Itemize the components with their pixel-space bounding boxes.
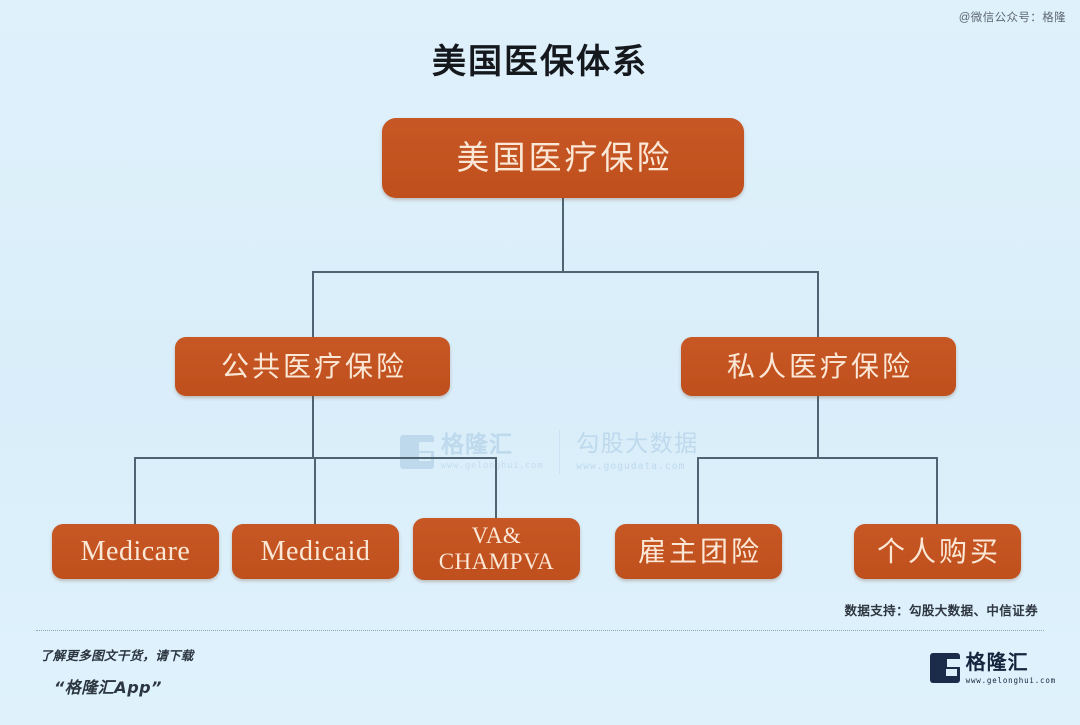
footer-promo-line2: “格隆汇App” <box>54 674 194 698</box>
watermark-left-url: www.gelonghui.com <box>441 462 543 471</box>
edge-private-stem <box>817 396 819 458</box>
watermark-left-block: 格隆汇 www.gelonghui.com <box>441 434 543 471</box>
node-va-champva[interactable]: VA& CHAMPVA <box>413 518 580 580</box>
edge-public-stem <box>312 396 314 458</box>
node-va-line1: VA& <box>439 523 555 549</box>
footer-logo-text: 格隆汇 www.gelonghui.com <box>966 652 1056 685</box>
node-medicare[interactable]: Medicare <box>52 524 219 579</box>
edge-to-employer <box>697 457 699 525</box>
node-individual-purchase[interactable]: 个人购买 <box>854 524 1021 579</box>
node-medicaid[interactable]: Medicaid <box>232 524 399 579</box>
footer-promo-line1: 了解更多图文干货，请下载 <box>40 645 194 664</box>
footer-logo-url: www.gelonghui.com <box>966 677 1056 685</box>
source-note: 数据支持：勾股大数据、中信证券 <box>844 600 1038 619</box>
watermark-right-name: 勾股大数据 <box>576 433 699 456</box>
edge-level1-bus <box>312 271 819 273</box>
edge-to-public <box>312 271 314 338</box>
node-va-line2: CHAMPVA <box>439 549 555 575</box>
footer-promo: 了解更多图文干货，请下载 “格隆汇App” <box>40 645 194 698</box>
edge-to-va <box>495 457 497 519</box>
edge-private-bus <box>697 457 937 459</box>
watermark-left-name: 格隆汇 <box>441 434 543 457</box>
edge-to-medicare <box>134 457 136 525</box>
gelonghui-logo-icon <box>400 435 434 469</box>
gelonghui-logo-icon <box>930 653 960 683</box>
node-root-insurance[interactable]: 美国医疗保险 <box>382 118 744 198</box>
edge-to-medicaid <box>314 457 316 525</box>
top-watermark: @微信公众号：格隆 <box>959 9 1066 25</box>
edge-to-personal <box>936 457 938 525</box>
watermark-divider <box>559 430 560 474</box>
diagram-canvas: @微信公众号：格隆 美国医保体系 格隆汇 www.gelonghui.com 勾… <box>0 0 1080 725</box>
center-watermark: 格隆汇 www.gelonghui.com 勾股大数据 www.gogudata… <box>400 424 700 480</box>
footer-logo-name: 格隆汇 <box>966 652 1056 672</box>
edge-to-private <box>817 271 819 338</box>
page-title: 美国医保体系 <box>0 34 1080 83</box>
footer-logo: 格隆汇 www.gelonghui.com <box>930 652 1056 685</box>
watermark-right-block: 勾股大数据 www.gogudata.com <box>576 433 699 472</box>
footer-divider <box>36 630 1044 632</box>
node-employer-group-plan[interactable]: 雇主团险 <box>615 524 782 579</box>
node-private-insurance[interactable]: 私人医疗保险 <box>681 337 956 396</box>
watermark-right-url: www.gogudata.com <box>576 462 699 472</box>
node-public-insurance[interactable]: 公共医疗保险 <box>175 337 450 396</box>
edge-root-stem <box>562 198 564 272</box>
